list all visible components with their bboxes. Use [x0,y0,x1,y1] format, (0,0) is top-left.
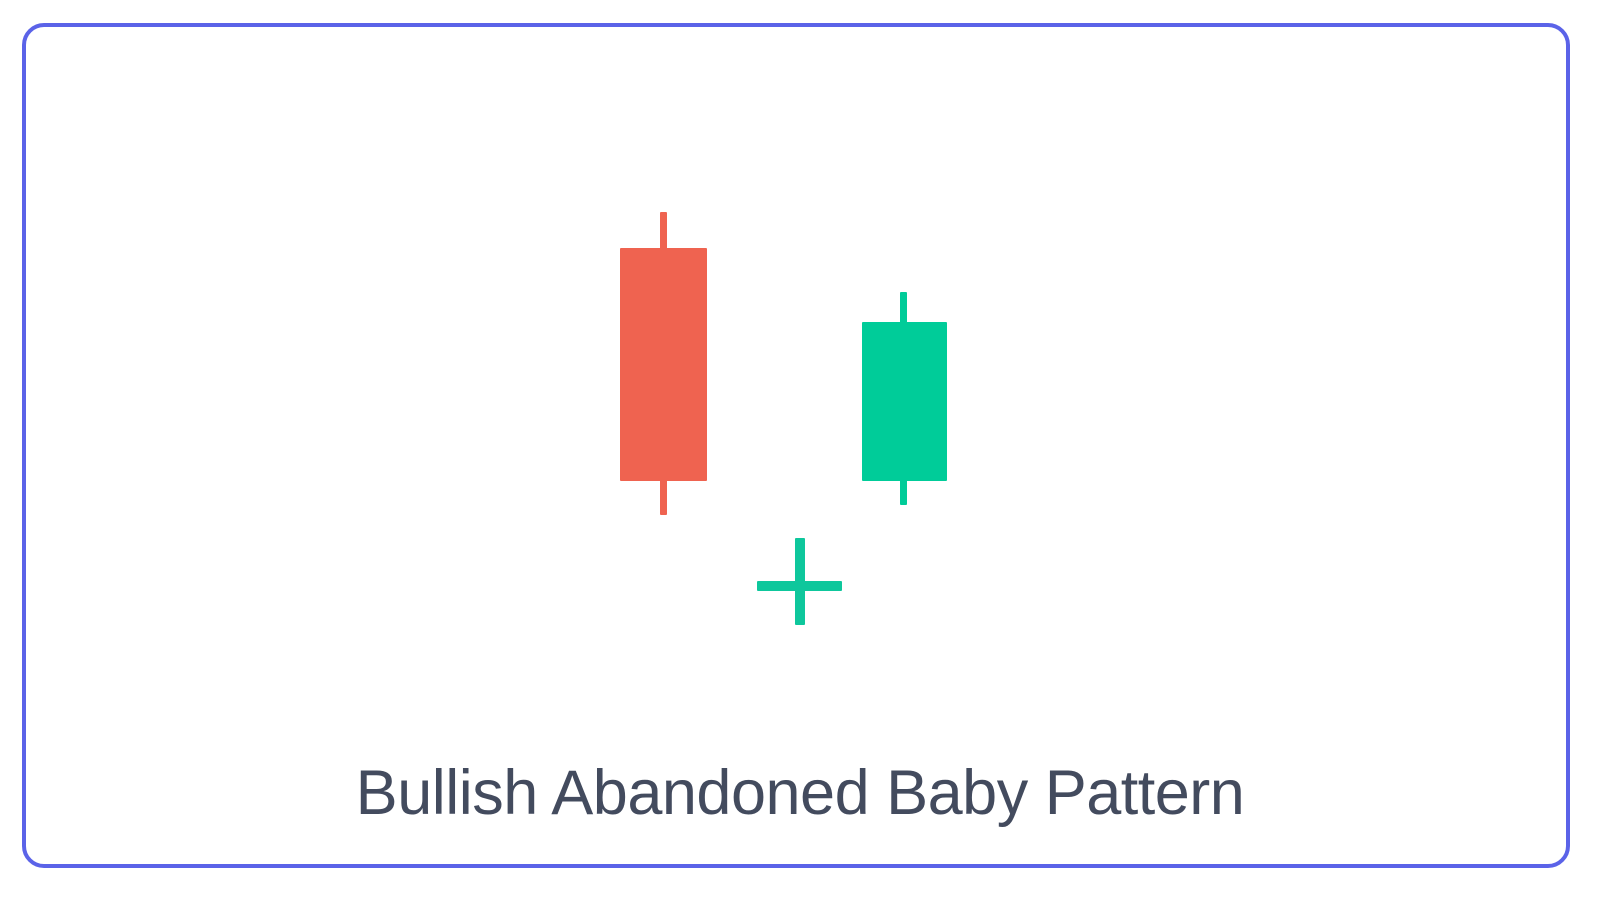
pattern-title: Bullish Abandoned Baby Pattern [0,757,1600,829]
candle-body-bullish-3 [862,322,947,481]
screenshot-canvas: Bullish Abandoned Baby Pattern [0,0,1600,900]
